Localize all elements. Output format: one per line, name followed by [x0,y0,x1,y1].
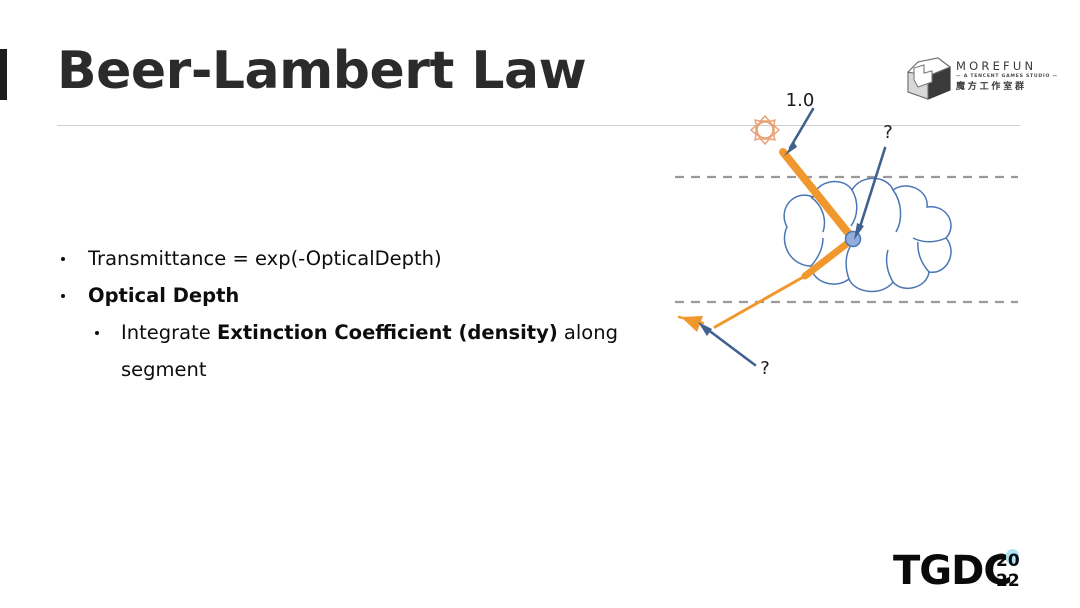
tgdc-wordmark: TGDC [893,548,1012,594]
annotation-arrow-sample-point [854,148,885,240]
label-incoming-radiance: 1.0 [786,90,815,111]
slide: Beer-Lambert Law MOREFUN — A TENCENT GAM… [0,0,1080,608]
scattered-light-ray [679,239,853,332]
bullet-optical-depth-text: Optical Depth [88,284,239,307]
bullet-integrate: Integrate Extinction Coefficient (densit… [45,314,645,388]
annotation-arrow-incoming [784,109,813,156]
annotation-arrow-segment [698,322,755,365]
diagram-canvas: 1.0 ? ? [655,80,1055,390]
morefun-wordmark: MOREFUN [956,60,1048,73]
tgdc-year-top: 20 [996,551,1020,571]
bullet-transmittance: Transmittance = exp(-OpticalDepth) [45,240,645,277]
incoming-light-ray [783,152,853,239]
bullet-optical-depth: Optical Depth [45,277,645,314]
title-accent-bar [0,49,7,100]
label-segment-query: ? [760,358,770,379]
bullet-integrate-emphasis: Extinction Coefficient (density) [217,321,558,344]
bullet-transmittance-text: Transmittance = exp(-OpticalDepth) [88,247,442,270]
page-title: Beer-Lambert Law [57,40,586,102]
tgdc-logo: TGDC 20 22 [893,546,1043,594]
label-sample-point-query: ? [883,122,893,143]
tgdc-year-bottom: 22 [996,571,1020,591]
tgdc-logo-mark: TGDC 20 22 [893,546,1043,594]
beer-lambert-diagram: 1.0 ? ? [655,80,1055,390]
bullet-list: Transmittance = exp(-OpticalDepth) Optic… [45,240,645,388]
bullet-integrate-prefix: Integrate [121,321,217,344]
sun-icon [751,116,779,144]
